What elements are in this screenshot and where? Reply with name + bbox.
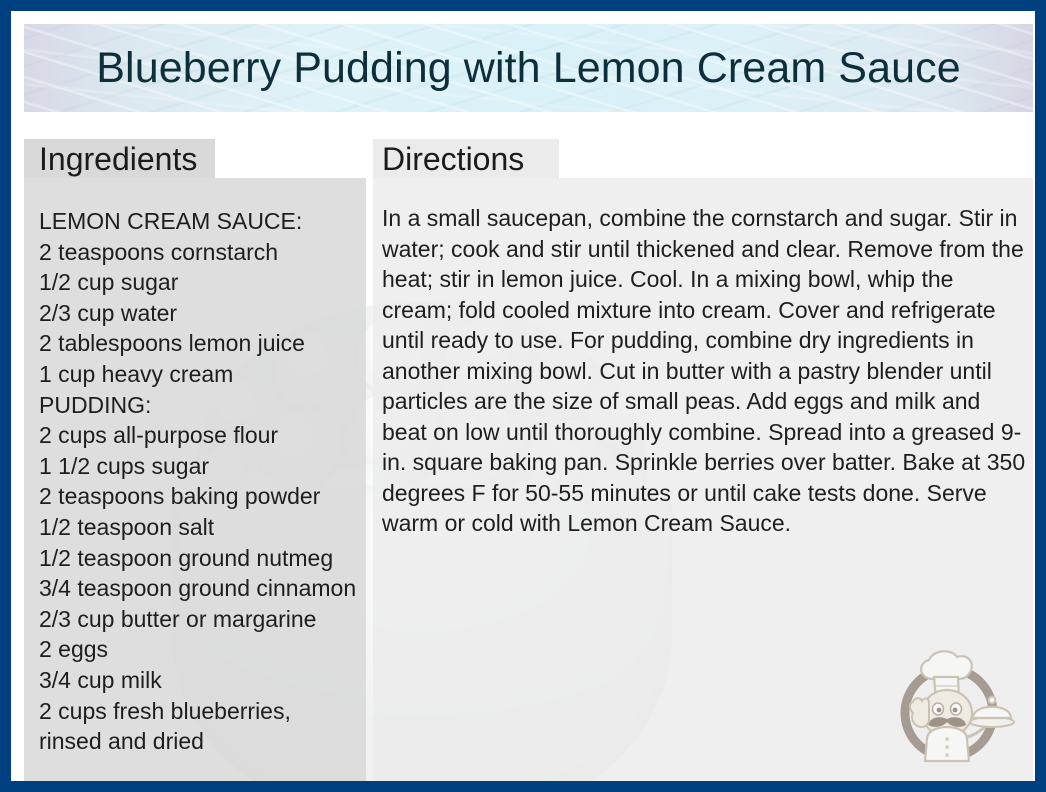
ingredient-item: 2 cups fresh blueberries, rinsed and dri… [39,696,357,757]
ingredients-list: LEMON CREAM SAUCE: 2 teaspoons cornstarc… [39,206,366,757]
ingredient-item: LEMON CREAM SAUCE: [39,206,366,237]
title-banner: Blueberry Pudding with Lemon Cream Sauce [24,24,1033,112]
ingredients-tab-label: Ingredients [39,143,197,175]
ingredients-tab: Ingredients [24,139,215,178]
recipe-card: Blueberry Pudding with Lemon Cream Sauce [0,0,1046,792]
ingredients-panel: LEMON CREAM SAUCE: 2 teaspoons cornstarc… [24,178,366,790]
ingredient-item: 3/4 teaspoon ground cinnamon [39,573,366,604]
ingredient-item: 2 teaspoons cornstarch [39,237,366,268]
ingredient-item: PUDDING: [39,390,366,421]
ingredient-item: 2/3 cup water [39,298,366,329]
ingredient-item: 2 tablespoons lemon juice [39,328,366,359]
ingredient-item: 2 cups all-purpose flour [39,420,366,451]
recipe-title: Blueberry Pudding with Lemon Cream Sauce [96,47,960,90]
ingredient-item: 1 1/2 cups sugar [39,451,366,482]
ingredient-item: 2 eggs [39,634,366,665]
ingredient-item: 1/2 teaspoon ground nutmeg [39,543,366,574]
ingredient-item: 1/2 teaspoon salt [39,512,366,543]
ingredient-item: 1 cup heavy cream [39,359,366,390]
ingredient-item: 2/3 cup butter or margarine [39,604,366,635]
directions-tab-label: Directions [382,143,524,175]
directions-tab: Directions [373,139,559,178]
directions-text: In a small saucepan, combine the cornsta… [382,203,1027,539]
ingredient-item: 1/2 cup sugar [39,267,366,298]
ingredient-item: 2 teaspoons baking powder [39,481,366,512]
ingredient-item: 3/4 cup milk [39,665,366,696]
chef-logo [889,639,1017,767]
